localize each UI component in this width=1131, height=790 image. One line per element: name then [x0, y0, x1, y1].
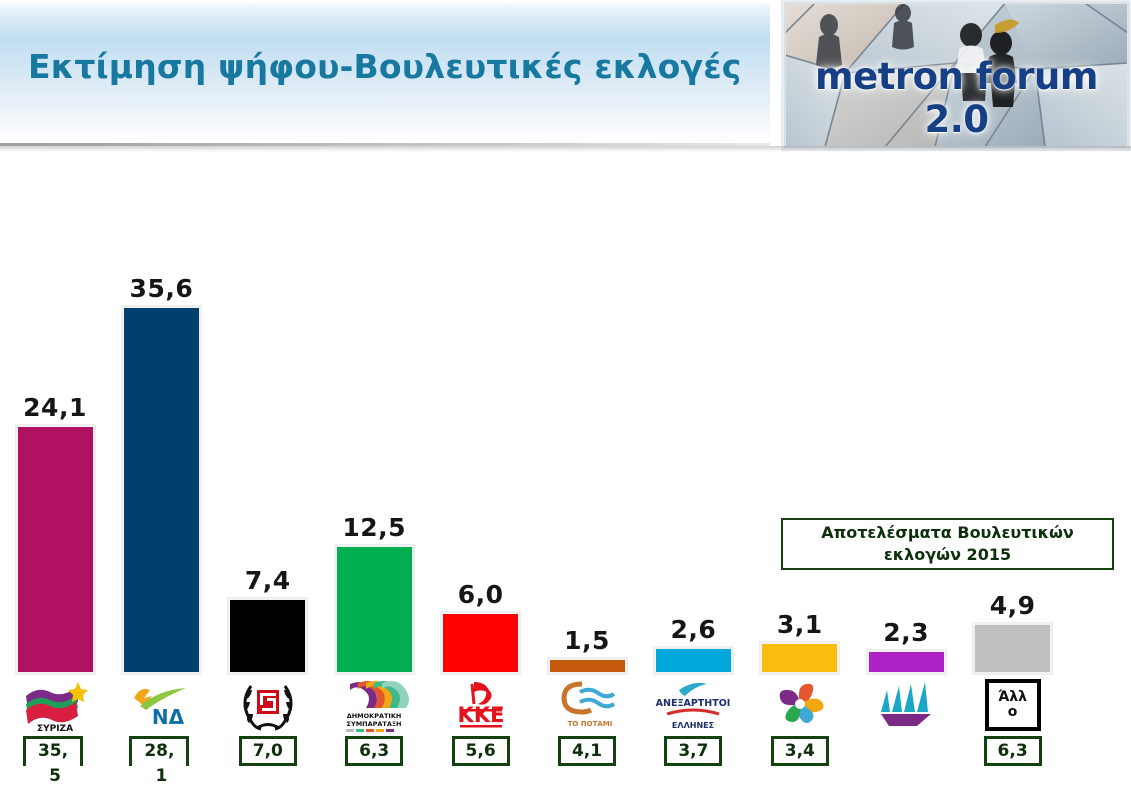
bar-laiki-enotita[interactable]: [867, 650, 946, 674]
allo-box: Άλλο: [965, 674, 1061, 736]
bar-area: 6,0: [433, 184, 529, 674]
bar-column: 12,5 ΔΗΜΟΚΡΑΤΙΚΗ ΣΥΜΠΑΡΑΤΑΞΗ 6,3: [326, 184, 422, 790]
bar-syriza[interactable]: [16, 425, 95, 674]
bar-kke[interactable]: [441, 612, 520, 674]
allo-label-box: Άλλο: [985, 679, 1041, 731]
result-2015-value: 35,: [23, 736, 83, 766]
bar-dimokratiki-symparataxi[interactable]: [335, 545, 414, 674]
result-2015-box: 6,3: [984, 736, 1042, 766]
result-2015-value: 28,: [129, 736, 189, 766]
result-2015-cell: 4,1: [539, 736, 635, 790]
result-2015-box: 6,3: [345, 736, 403, 766]
result-2015-cell: 7,0: [220, 736, 316, 790]
bar-enosi-kentroon[interactable]: [760, 642, 839, 674]
bar-value-label: 35,6: [130, 276, 194, 301]
bar-column: 1,5 ΤΟ ΠΟΤΑΜΙ 4,1: [539, 184, 635, 790]
svg-text:ΣΥΜΠΑΡΑΤΑΞΗ: ΣΥΜΠΑΡΑΤΑΞΗ: [347, 720, 402, 728]
to-potami-logo: ΤΟ ΠΟΤΑΜΙ: [539, 674, 635, 736]
result-2015-box: 3,4: [771, 736, 829, 766]
bar-column: 6,0 ΚΚΕ 5,6: [433, 184, 529, 790]
result-2015-cell: 5,6: [433, 736, 529, 790]
result-2015-cell: 28,1: [113, 736, 209, 790]
bar-anexartitoi-ellines[interactable]: [654, 647, 733, 674]
bar-column: 4,9Άλλο6,3: [965, 184, 1061, 790]
result-2015-box: 7,0: [239, 736, 297, 766]
svg-text:ΑΝΕΞΑΡΤΗΤΟΙ: ΑΝΕΞΑΡΤΗΤΟΙ: [656, 698, 731, 709]
bar-value-label: 7,4: [245, 568, 291, 593]
result-2015-box: 28,1: [129, 736, 193, 766]
bar-chart: Αποτελέσματα Βουλευτικών εκλογών 2015 24…: [0, 152, 1131, 790]
syriza-logo: ΣΥΡΙΖΑ: [7, 674, 103, 736]
kke-logo: ΚΚΕ: [433, 674, 529, 736]
svg-text:ΔΗΜΟΚΡΑΤΙΚΗ: ΔΗΜΟΚΡΑΤΙΚΗ: [347, 712, 402, 720]
result-2015-cell: 35,5: [7, 736, 103, 790]
svg-text:ΝΔ: ΝΔ: [152, 705, 185, 729]
bar-area: 24,1: [7, 184, 103, 674]
result-2015-box: 3,7: [664, 736, 722, 766]
bar-value-label: 2,6: [670, 617, 716, 642]
result-2015-value-overflow: 5: [23, 766, 87, 786]
allo-label: Άλλ: [998, 690, 1027, 705]
bar-area: 1,5: [539, 184, 635, 674]
bar-to-potami[interactable]: [548, 658, 627, 674]
bar-column: 7,4 7,0: [220, 184, 316, 790]
svg-text:ΤΟ ΠΟΤΑΜΙ: ΤΟ ΠΟΤΑΜΙ: [568, 720, 613, 728]
bar-value-label: 3,1: [777, 612, 823, 637]
bar-allo-box[interactable]: [973, 623, 1052, 674]
svg-text:ΚΚΕ: ΚΚΕ: [457, 703, 504, 727]
golden-dawn-logo: [220, 674, 316, 736]
bar-column: 2,3: [858, 184, 954, 790]
anexartitoi-ellines-logo: ΑΝΕΞΑΡΤΗΤΟΙ ΕΛΛΗΝΕΣ: [645, 674, 741, 736]
bar-column: 24,1 ΣΥΡΙΖΑ 35,5: [7, 184, 103, 790]
bar-area: 4,9: [965, 184, 1061, 674]
nd-logo: ΝΔ: [113, 674, 209, 736]
bar-value-label: 6,0: [458, 582, 504, 607]
bar-value-label: 2,3: [883, 620, 929, 645]
result-2015-cell: 6,3: [965, 736, 1061, 790]
bar-area: 3,1: [752, 184, 848, 674]
bar-nd[interactable]: [122, 306, 201, 674]
result-2015-cell: 3,7: [645, 736, 741, 790]
slide-header: Εκτίμηση ψήφου-Βουλευτικές εκλογές: [0, 0, 1131, 152]
svg-text:ΕΛΛΗΝΕΣ: ΕΛΛΗΝΕΣ: [672, 721, 714, 730]
bar-column: 2,6 ΑΝΕΞΑΡΤΗΤΟΙ ΕΛΛΗΝΕΣ 3,7: [645, 184, 741, 790]
bar-value-label: 1,5: [564, 628, 610, 653]
result-2015-cell: 3,4: [752, 736, 848, 790]
bar-value-label: 12,5: [342, 515, 406, 540]
allo-label-overflow: ο: [1008, 705, 1018, 720]
bar-area: 7,4: [220, 184, 316, 674]
page-title: Εκτίμηση ψήφου-Βουλευτικές εκλογές: [28, 47, 742, 86]
bar-column: 35,6 ΝΔ 28,1: [113, 184, 209, 790]
bar-value-label: 4,9: [990, 593, 1036, 618]
result-2015-box: 5,6: [452, 736, 510, 766]
svg-text:ΣΥΡΙΖΑ: ΣΥΡΙΖΑ: [37, 724, 73, 734]
metron-forum-logo: metron forum 2.0: [784, 2, 1129, 148]
dimokratiki-symparataxi-logo: ΔΗΜΟΚΡΑΤΙΚΗ ΣΥΜΠΑΡΑΤΑΞΗ: [326, 674, 422, 736]
bar-value-label: 24,1: [23, 395, 87, 420]
bar-area: 2,3: [858, 184, 954, 674]
bar-area: 35,6: [113, 184, 209, 674]
result-2015-value-overflow: 1: [129, 766, 193, 786]
bar-area: 12,5: [326, 184, 422, 674]
logo-wordmark: metron forum 2.0: [785, 55, 1128, 141]
result-2015-box: 4,1: [558, 736, 616, 766]
bar-area: 2,6: [645, 184, 741, 674]
result-2015-cell: [858, 736, 954, 790]
enosi-kentroon-logo: [752, 674, 848, 736]
bar-golden-dawn[interactable]: [228, 598, 307, 674]
bar-column: 3,1 3,4: [752, 184, 848, 790]
laiki-enotita-logo: [858, 674, 954, 736]
result-2015-box: 35,5: [23, 736, 87, 766]
result-2015-cell: 6,3: [326, 736, 422, 790]
